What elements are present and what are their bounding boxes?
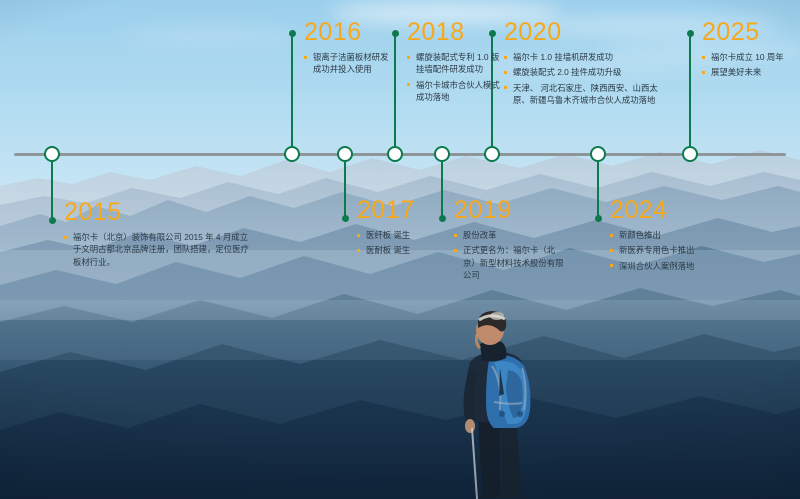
timeline-entry-2016[interactable]: 2016银离子洁菌板材研发成功并投入使用 bbox=[304, 20, 396, 79]
entry-bullet-item: 股份改革 bbox=[454, 229, 566, 241]
timeline-node-marker[interactable] bbox=[682, 146, 698, 162]
timeline-entry-2015[interactable]: 2015福尔卡（北京）装饰有限公司 2015 年 4 月成立于文明古都北京品牌注… bbox=[64, 200, 249, 271]
entry-bullet-list: 福尔卡（北京）装饰有限公司 2015 年 4 月成立于文明古都北京品牌注册，团队… bbox=[64, 231, 249, 268]
entry-bullet-item: 医纤板 诞生 bbox=[357, 229, 437, 241]
timeline-stem-tip bbox=[439, 215, 446, 222]
timeline-node-marker[interactable] bbox=[337, 146, 353, 162]
timeline-entry-2019[interactable]: 2019股份改革正式更名为：福尔卡（北京）新型材料技术股份有限公司 bbox=[454, 198, 566, 285]
timeline-entry-2017[interactable]: 2017医纤板 诞生医耐板 诞生 bbox=[357, 198, 437, 260]
timeline-stem-tip bbox=[687, 30, 694, 37]
entry-bullet-list: 福尔卡成立 10 周年展望美好未来 bbox=[702, 51, 800, 79]
entry-bullet-item: 新医养专用色卡推出 bbox=[610, 244, 728, 256]
timeline-node-marker[interactable] bbox=[284, 146, 300, 162]
timeline-node-marker[interactable] bbox=[484, 146, 500, 162]
entry-bullet-item: 正式更名为：福尔卡（北京）新型材料技术股份有限公司 bbox=[454, 244, 566, 281]
timeline-stem bbox=[689, 34, 691, 146]
entry-bullet-item: 展望美好未来 bbox=[702, 66, 800, 78]
timeline-entry-2020[interactable]: 2020福尔卡 1.0 挂墙机研发成功螺旋装配式 2.0 挂件成功升级天津、 河… bbox=[504, 20, 664, 110]
timeline-entry-2024[interactable]: 2024新颜色推出新医养专用色卡推出深圳合伙人案例落地 bbox=[610, 198, 728, 275]
entry-year-label: 2016 bbox=[304, 20, 396, 45]
entry-bullet-item: 天津、 河北石家庄、陕西西安、山西太原、新疆乌鲁木齐城市合伙人成功落地 bbox=[504, 82, 664, 107]
entry-year-label: 2019 bbox=[454, 198, 566, 223]
entry-bullet-item: 福尔卡成立 10 周年 bbox=[702, 51, 800, 63]
timeline-entry-2018[interactable]: 2018螺旋装配式专利 1.0 版挂墙配件研发成功福尔卡城市合伙人模式成功落地 bbox=[407, 20, 507, 107]
timeline-stem-tip bbox=[595, 215, 602, 222]
entry-bullet-list: 医纤板 诞生医耐板 诞生 bbox=[357, 229, 437, 257]
entry-bullet-item: 福尔卡（北京）装饰有限公司 2015 年 4 月成立于文明古都北京品牌注册，团队… bbox=[64, 231, 249, 268]
entry-bullet-item: 螺旋装配式专利 1.0 版挂墙配件研发成功 bbox=[407, 51, 507, 76]
entry-year-label: 2020 bbox=[504, 20, 664, 45]
entry-year-label: 2017 bbox=[357, 198, 437, 223]
entry-bullet-item: 福尔卡城市合伙人模式成功落地 bbox=[407, 79, 507, 104]
entry-bullet-list: 新颜色推出新医养专用色卡推出深圳合伙人案例落地 bbox=[610, 229, 728, 272]
entry-bullet-list: 银离子洁菌板材研发成功并投入使用 bbox=[304, 51, 396, 76]
entry-bullet-list: 股份改革正式更名为：福尔卡（北京）新型材料技术股份有限公司 bbox=[454, 229, 566, 282]
entry-bullet-item: 福尔卡 1.0 挂墙机研发成功 bbox=[504, 51, 664, 63]
timeline-stem bbox=[51, 162, 53, 220]
timeline-node-marker[interactable] bbox=[387, 146, 403, 162]
entry-bullet-item: 深圳合伙人案例落地 bbox=[610, 260, 728, 272]
timeline-node-marker[interactable] bbox=[590, 146, 606, 162]
timeline-stem bbox=[597, 162, 599, 218]
timeline-stem-tip bbox=[289, 30, 296, 37]
entry-bullet-item: 新颜色推出 bbox=[610, 229, 728, 241]
entry-year-label: 2025 bbox=[702, 20, 800, 45]
entry-bullet-list: 福尔卡 1.0 挂墙机研发成功螺旋装配式 2.0 挂件成功升级天津、 河北石家庄… bbox=[504, 51, 664, 107]
timeline-stem bbox=[291, 34, 293, 146]
timeline-stem-tip bbox=[49, 217, 56, 224]
entry-bullet-item: 螺旋装配式 2.0 挂件成功升级 bbox=[504, 66, 664, 78]
entry-bullet-item: 银离子洁菌板材研发成功并投入使用 bbox=[304, 51, 396, 76]
timeline-stem-tip bbox=[342, 215, 349, 222]
entry-year-label: 2024 bbox=[610, 198, 728, 223]
timeline-node-marker[interactable] bbox=[44, 146, 60, 162]
timeline-entry-2025[interactable]: 2025福尔卡成立 10 周年展望美好未来 bbox=[702, 20, 800, 82]
timeline-stem bbox=[441, 162, 443, 218]
entry-year-label: 2015 bbox=[64, 200, 249, 225]
timeline-infographic: 2015福尔卡（北京）装饰有限公司 2015 年 4 月成立于文明古都北京品牌注… bbox=[0, 0, 800, 499]
entry-year-label: 2018 bbox=[407, 20, 507, 45]
timeline-stem bbox=[344, 162, 346, 218]
timeline-node-marker[interactable] bbox=[434, 146, 450, 162]
entry-bullet-item: 医耐板 诞生 bbox=[357, 244, 437, 256]
entry-bullet-list: 螺旋装配式专利 1.0 版挂墙配件研发成功福尔卡城市合伙人模式成功落地 bbox=[407, 51, 507, 104]
